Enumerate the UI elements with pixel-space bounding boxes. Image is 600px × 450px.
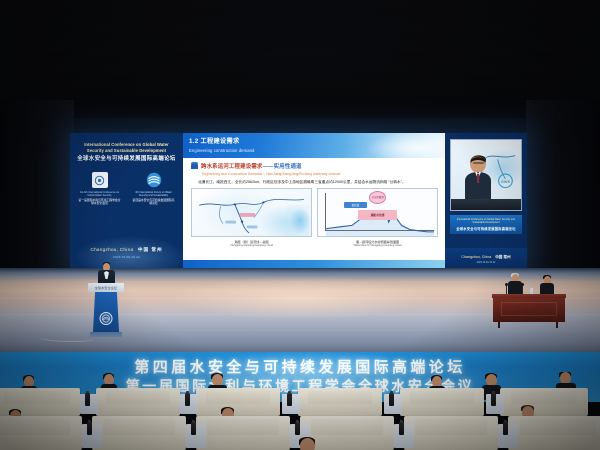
logo-item: 4th International Forum on Water Securit…	[133, 172, 175, 206]
figure-elevation-profile: 分水岭隧洞 渠化段 通航水位线 湘—赣河段分水岭断面纵剖面图 Watershed…	[317, 188, 438, 247]
thermos-flask	[399, 422, 404, 435]
podium-label: 全球水安全论坛	[88, 286, 124, 290]
sofa-seat	[508, 416, 600, 450]
thermos-flask	[503, 422, 508, 435]
venue-location-en: Changzhou, China	[90, 247, 133, 252]
slide-bullet-cn-tail: ——实用性通道	[263, 164, 302, 170]
figure-caption-en: Xiangjiang-Ganjiang/Ganjiang canal	[230, 244, 273, 247]
feed-banner: International Conference on Global Water…	[450, 215, 522, 234]
figure-frame: 分水岭隧洞 渠化段 通航水位线	[317, 188, 438, 237]
conference-title-cn: 全球水安全与可持续发展国际高端论坛	[77, 156, 175, 163]
microphone-icon	[506, 285, 507, 294]
speaker-in-feed	[459, 153, 499, 201]
thermos-flask	[185, 393, 190, 406]
slide-figures: 湘桂（赣）运河线—总图 Xiangjiang-Ganjiang/Ganjiang…	[183, 188, 445, 247]
panel-table	[492, 286, 566, 328]
audience-seating	[0, 372, 600, 450]
slide-bullet-cn: 跨水系运河工程建设需求——实用性通道	[201, 162, 302, 170]
slide-body: 跨水系运河工程建设需求——实用性通道 Engineering and Const…	[183, 158, 445, 185]
chart-annotation-canalized: 渠化段	[344, 202, 367, 208]
logo-item: 1st-4th International Conference on Glob…	[79, 172, 121, 206]
live-speaker-feed: GWS	[450, 139, 522, 211]
svg-text:GWS: GWS	[501, 179, 511, 184]
slide-paragraph: 北通长江，南抵西江，全长约2562km，行政区划涉及中上游地区湘赣粤三省重点约1…	[191, 179, 439, 185]
forum-emblem-icon	[100, 312, 113, 325]
feed-location-en: Changzhou, China	[461, 255, 491, 259]
sofa-seat	[196, 416, 290, 450]
thermos-flask	[87, 422, 92, 435]
conference-hall-photo: International Conference on Global Water…	[0, 0, 600, 450]
feed-banner-cn: 全球水安全与可持续发展国际高端论坛	[452, 226, 520, 231]
slide-heading-cn: 1.2 工程建设需求	[189, 136, 445, 145]
slide-heading-cn-text: 工程建设需求	[201, 138, 240, 145]
venue-date: 2023.10.20-10.22	[70, 255, 183, 259]
sofa-seat	[196, 388, 280, 416]
figure-frame	[191, 188, 312, 237]
logo-caption-en: 4th International Forum on Water Securit…	[133, 191, 175, 198]
thermos-flask	[287, 393, 292, 406]
figure-caption-cn: 湘—赣河段分水岭断面纵剖面图	[356, 239, 399, 244]
sofa-seat	[0, 416, 82, 450]
slide-panel-branding: International Conference on Global Water…	[70, 133, 183, 270]
microphone-icon	[522, 285, 523, 294]
side-table	[82, 424, 102, 448]
sofa-seat	[500, 388, 588, 416]
thermos-flask	[295, 422, 300, 435]
slide-header: 1.2 工程建设需求 Engineering construction dema…	[183, 133, 445, 158]
slide-bullet-row: 跨水系运河工程建设需求——实用性通道	[191, 162, 439, 170]
sofa-seat	[96, 388, 180, 416]
venue-location-cn: 中国 常州	[138, 247, 163, 252]
figure-caption-cn: 湘桂（赣）运河线—总图	[234, 239, 268, 244]
side-table	[394, 424, 414, 448]
live-speaker-panel: GWS International Conference	[445, 133, 527, 270]
thermos-flask	[85, 393, 90, 406]
keynote-speaker	[98, 263, 115, 285]
slide-bullet-cn-text: 跨水系运河工程建设需求	[201, 164, 263, 170]
feed-date: 2023.10.20-10.22	[477, 261, 496, 264]
logo-caption-cn: 第一届国际水利与环境工程学会全球水安全会议	[79, 199, 121, 206]
thermos-flask	[191, 422, 196, 435]
presentation-slide: 1.2 工程建设需求 Engineering construction dema…	[183, 133, 445, 270]
sofa-seat	[92, 416, 186, 450]
forum-logo-icon	[92, 172, 108, 188]
sofa-seat	[298, 388, 382, 416]
floor-reflection	[120, 274, 480, 334]
table-front-panel	[493, 298, 565, 322]
folder-icon	[191, 164, 198, 169]
panellist	[508, 274, 522, 296]
thermos-flask	[389, 393, 394, 406]
figure-caption-en: Watershed of Xiangjiang-Ganjiang canal	[353, 244, 401, 247]
figure-canal-map: 湘桂（赣）运河线—总图 Xiangjiang-Ganjiang/Ganjiang…	[191, 188, 312, 247]
feed-banner-en: International Conference on Global Water…	[452, 218, 520, 224]
podium-base	[90, 332, 122, 337]
slide-section-number: 1.2	[189, 138, 199, 145]
logo-caption-cn: 第四届水安全与可持续发展国际高端论坛	[133, 199, 175, 206]
slide-heading-en: Engineering construction demand	[189, 148, 445, 153]
venue-location: Changzhou, China 中国 常州	[70, 247, 183, 253]
sofa-seat	[400, 388, 484, 416]
slide-bullet-en: Engineering and Construction Demands – H…	[202, 172, 439, 176]
thermos-flask	[491, 393, 496, 406]
river-network-icon	[192, 189, 311, 236]
side-table	[186, 424, 206, 448]
led-screen: International Conference on Global Water…	[70, 133, 527, 270]
chart-annotation-navigation-level: 通航水位线	[358, 210, 396, 220]
speaker-figure-icon	[459, 153, 499, 201]
iahr-logo-icon	[146, 172, 162, 188]
podium-top: 全球水安全论坛	[88, 283, 124, 292]
logo-caption-en: 1st-4th International Conference on Glob…	[79, 191, 121, 198]
feed-footer: Changzhou, China 中国 常州 2023.10.20-10.22	[445, 248, 527, 270]
feed-location: Changzhou, China 中国 常州	[461, 255, 510, 260]
feed-location-cn: 中国 常州	[495, 255, 510, 259]
logo-row: 1st-4th International Conference on Glob…	[79, 172, 175, 206]
table-panel-trim	[501, 302, 557, 316]
podium: 全球水安全论坛	[88, 283, 124, 339]
podium-in-feed	[451, 199, 521, 210]
podium-body	[93, 292, 119, 332]
conference-title-en: International Conference on Global Water…	[78, 142, 176, 153]
sofa-seat	[404, 416, 498, 450]
side-table	[498, 424, 518, 448]
ceiling	[0, 0, 600, 118]
